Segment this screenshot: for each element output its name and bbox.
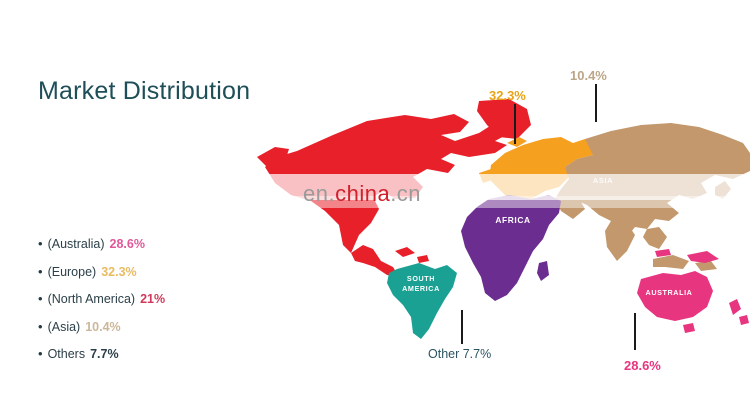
bullet-icon: •	[38, 321, 43, 333]
legend-item-australia: • (Australia) 28.6%	[38, 238, 268, 251]
watermark-text: en.china.cn	[303, 181, 421, 207]
legend-value: 7.7%	[90, 348, 119, 361]
legend-item-asia: • (Asia) 10.4%	[38, 321, 268, 334]
legend-label: (Asia)	[48, 321, 81, 334]
legend-value: 28.6%	[110, 238, 145, 251]
legend-label: Others	[48, 348, 86, 361]
map-label-south-america: SOUTH	[407, 274, 435, 283]
legend-item-others: • Others 7.7%	[38, 348, 268, 361]
legend-label: (Europe)	[48, 266, 97, 279]
callout-australia: 28.6%	[624, 358, 661, 373]
callout-leader-line-other	[461, 310, 463, 344]
page-title: Market Distribution	[38, 77, 250, 106]
callout-europe: 32.3%	[489, 88, 526, 103]
watermark-suffix: .cn	[390, 181, 421, 206]
legend-label: (Australia)	[48, 238, 105, 251]
map-label-australia: AUSTRALIA	[646, 288, 693, 297]
map-region-south-america: SOUTH AMERICA	[387, 263, 457, 339]
map-region-africa: AFRICA	[461, 195, 561, 301]
legend-label: (North America)	[48, 293, 136, 306]
watermark-prefix: en.	[303, 181, 335, 206]
legend-value: 21%	[140, 293, 165, 306]
legend-item-north-america: • (North America) 21%	[38, 293, 268, 306]
bullet-icon: •	[38, 238, 43, 250]
watermark-brand: china	[335, 181, 390, 206]
map-label-africa: AFRICA	[495, 215, 530, 225]
bullet-icon: •	[38, 266, 43, 278]
slide-canvas: Market Distribution SOUTH AMERICA	[0, 0, 750, 407]
callout-leader-line-asia	[595, 84, 597, 122]
callout-leader-line-europe	[514, 104, 516, 144]
world-map: SOUTH AMERICA	[255, 95, 750, 340]
callout-other: Other 7.7%	[428, 347, 491, 361]
callout-asia: 10.4%	[570, 68, 607, 83]
legend-item-europe: • (Europe) 32.3%	[38, 266, 268, 279]
callout-leader-line-australia	[634, 313, 636, 350]
legend-value: 32.3%	[101, 266, 136, 279]
legend-value: 10.4%	[85, 321, 120, 334]
bullet-icon: •	[38, 348, 43, 360]
map-label-south-america-2: AMERICA	[402, 284, 440, 293]
bullet-icon: •	[38, 293, 43, 305]
legend-list: • (Australia) 28.6% • (Europe) 32.3% • (…	[38, 238, 268, 376]
